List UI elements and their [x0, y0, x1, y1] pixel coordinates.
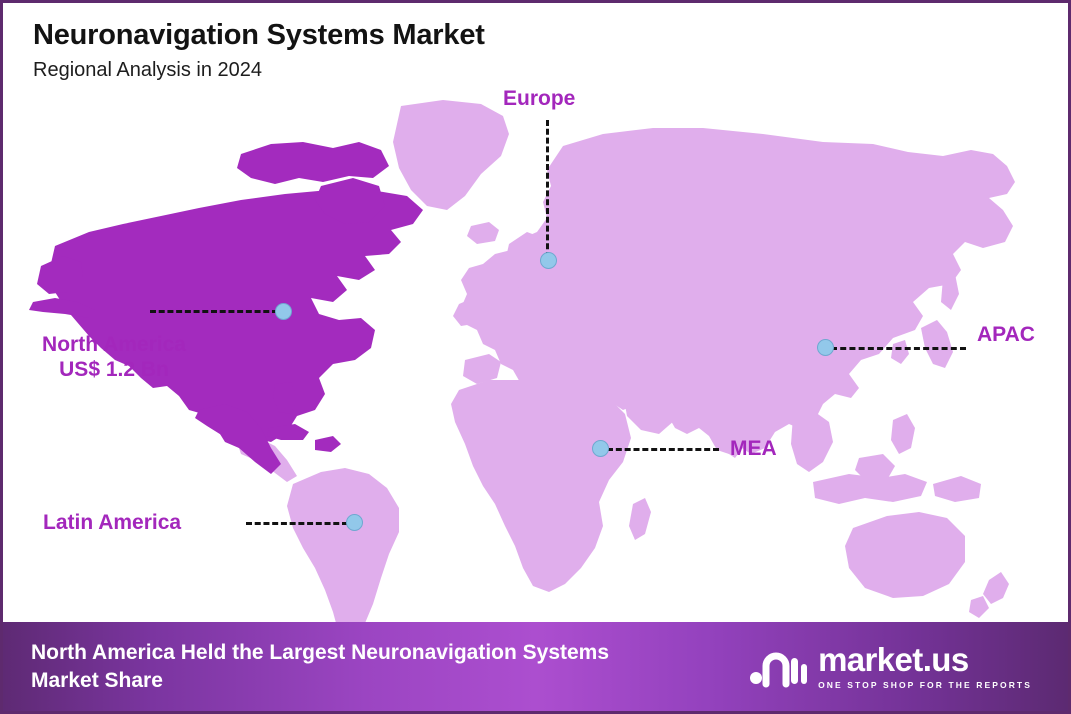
map-marker-europe[interactable]: [540, 252, 557, 269]
infographic-canvas: Neuronavigation Systems Market Regional …: [0, 0, 1071, 714]
region-name-latin-america: Latin America: [43, 511, 181, 534]
leader-line-north-america: [150, 310, 278, 313]
map-shape-japan: [921, 320, 953, 368]
footer-banner: North America Held the Largest Neuronavi…: [3, 622, 1068, 711]
region-label-europe[interactable]: Europe: [503, 87, 575, 112]
map-shape-philippines: [891, 414, 915, 454]
logo-tagline: ONE STOP SHOP FOR THE REPORTS: [818, 680, 1032, 690]
map-marker-north-america[interactable]: [275, 303, 292, 320]
map-marker-mea[interactable]: [592, 440, 609, 457]
map-shape-papua: [933, 476, 981, 502]
map-marker-latin-america[interactable]: [346, 514, 363, 531]
map-shape-africa: [451, 380, 631, 592]
map-shape-canadian-arctic: [237, 142, 389, 184]
map-shape-madagascar: [629, 498, 651, 540]
leader-line-europe: [546, 120, 549, 258]
region-value-north-america: US$ 1.2 Bn: [19, 358, 209, 383]
market-us-logo-icon: [749, 645, 807, 689]
map-shape-southeast-asia: [791, 412, 833, 472]
region-label-apac[interactable]: APAC: [977, 323, 1035, 348]
leader-line-mea: [607, 448, 719, 451]
map-shape-greenland: [393, 100, 509, 210]
map-region-north-america-highlight: [29, 142, 423, 474]
map-shape-korea: [891, 340, 909, 364]
map-shape-new-zealand: [983, 572, 1009, 604]
leader-line-latin-america: [246, 522, 348, 525]
market-us-logo[interactable]: market.us ONE STOP SHOP FOR THE REPORTS: [749, 643, 1032, 690]
region-name-north-america: North America: [42, 333, 186, 356]
logo-name: market.us: [818, 643, 969, 676]
region-label-mea[interactable]: MEA: [730, 437, 777, 462]
leader-line-apac: [831, 347, 966, 350]
map-shape-south-america: [287, 468, 399, 623]
region-label-north-america[interactable]: North America US$ 1.2 Bn: [19, 333, 209, 383]
map-shape-australia: [845, 512, 965, 598]
logo-wordmark: market.us ONE STOP SHOP FOR THE REPORTS: [818, 643, 1032, 690]
page-subtitle: Regional Analysis in 2024: [33, 59, 485, 82]
map-shape-iceland: [467, 222, 499, 244]
region-label-latin-america[interactable]: Latin America: [43, 511, 181, 536]
page-title: Neuronavigation Systems Market: [33, 19, 485, 52]
region-name-europe: Europe: [503, 87, 575, 110]
map-marker-apac[interactable]: [817, 339, 834, 356]
map-shape-sakhalin: [941, 274, 959, 310]
map-shape-iberia: [463, 354, 501, 384]
region-name-apac: APAC: [977, 323, 1035, 346]
header: Neuronavigation Systems Market Regional …: [33, 19, 485, 82]
map-shape-hispaniola: [315, 436, 341, 452]
map-shape-new-zealand-south: [969, 596, 989, 618]
region-name-mea: MEA: [730, 437, 777, 460]
banner-headline: North America Held the Largest Neuronavi…: [31, 639, 671, 695]
